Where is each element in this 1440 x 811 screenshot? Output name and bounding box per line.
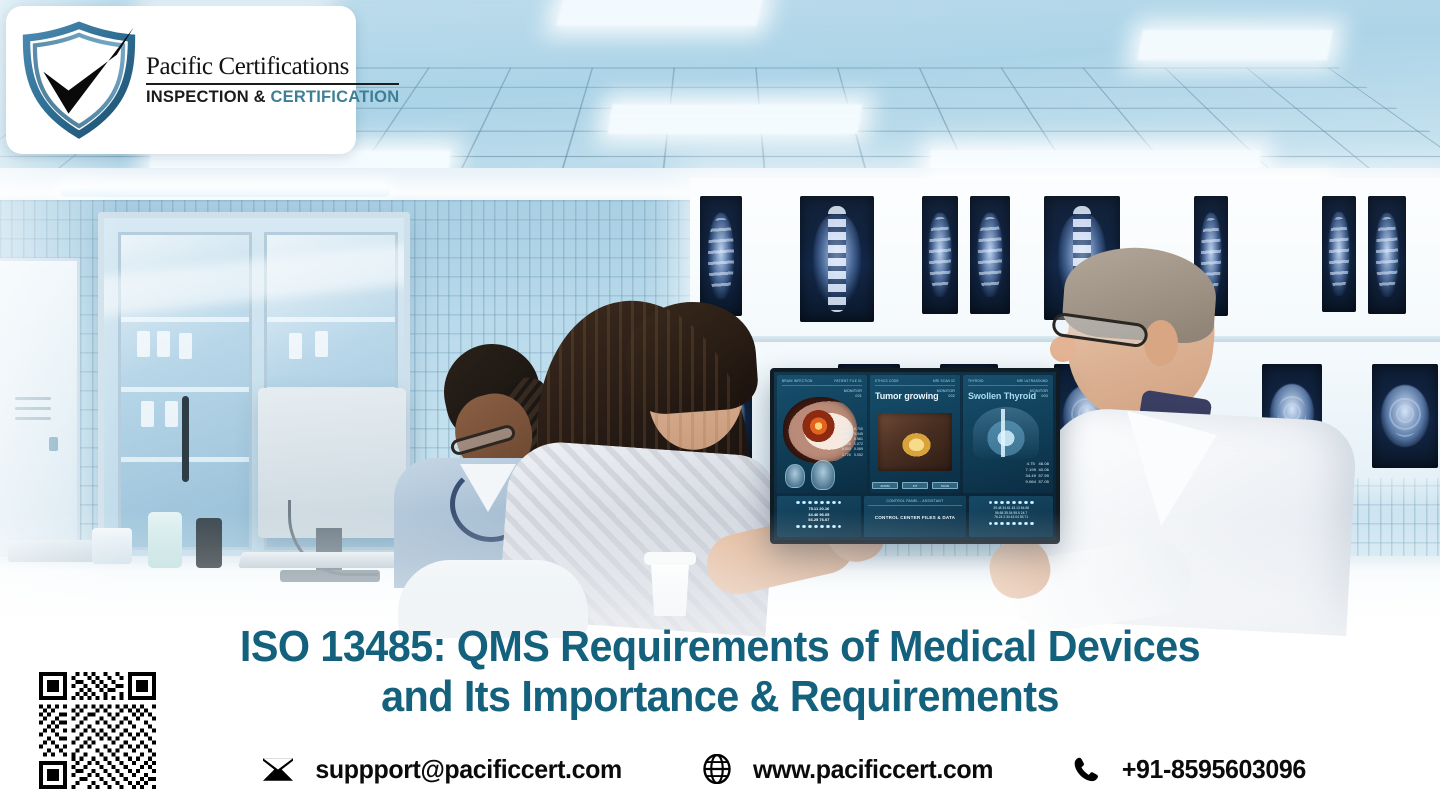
pane-header-right: MRI SCAN 02 <box>933 379 955 383</box>
contact-website[interactable]: www.pacificcert.com <box>700 752 998 786</box>
monitor-button[interactable]: FIT <box>902 482 928 489</box>
contact-bar: suppport@pacificcert.com www.pacificcert… <box>0 742 1440 796</box>
thyroid-scan-image <box>973 407 1039 459</box>
phone-icon <box>1070 752 1104 786</box>
logo-wordmark: Pacific Certifications INSPECTION & CERT… <box>142 53 399 107</box>
desk-jar <box>92 528 132 564</box>
locker-lock <box>49 437 58 451</box>
thyroid-scan-line <box>1001 409 1005 457</box>
monitor-bottom-left: 75.11 20.16 34.46 96.05 53.25 76.07 <box>777 496 861 537</box>
person-doctor <box>1024 248 1354 628</box>
email-icon <box>261 752 295 786</box>
ceiling-light <box>557 0 764 26</box>
indicator-dots <box>973 501 1049 504</box>
phone-label: +91-8595603096 <box>1122 754 1306 785</box>
title-line-2: and Its Importance & Requirements <box>156 672 1284 722</box>
logo-tagline: INSPECTION & CERTIFICATION <box>146 88 399 107</box>
monitor-pane-brain: BRAIN INFECTION PATIENT FILE 01 MONITOR … <box>777 375 867 493</box>
tumor-scan-image <box>878 413 952 471</box>
control-panel-header: CONTROL PANEL - ASSISTANT <box>868 499 963 506</box>
pane-header-right: MRI ULTRASOUND <box>1017 379 1048 383</box>
desk-bottle-dark <box>196 518 222 568</box>
tagline-inspection: INSPECTION & <box>146 88 271 106</box>
logo-card[interactable]: Pacific Certifications INSPECTION & CERT… <box>6 6 356 154</box>
readout-value: 76.24 2.34 42.04 53.71 <box>973 515 1049 519</box>
monitor-pane-thyroid: THYROID MRI ULTRASOUND MONITOR 003 Swoll… <box>963 375 1053 493</box>
monitor-label: MONITOR <box>937 389 955 393</box>
indicator-dots <box>973 522 1049 525</box>
title-line-1: ISO 13485: QMS Requirements of Medical D… <box>156 622 1284 672</box>
control-center-title: CONTROL CENTER FILES & DATA <box>868 515 963 521</box>
website-label: www.pacificcert.com <box>753 754 993 785</box>
medical-display-monitor: BRAIN INFECTION PATIENT FILE 01 MONITOR … <box>770 368 1060 544</box>
skull-thumbnail <box>811 460 835 490</box>
coffee-cup-lid <box>644 552 696 565</box>
monitor-id: 001 <box>855 394 862 398</box>
globe-icon <box>700 752 734 786</box>
indicator-dots <box>781 501 857 504</box>
desk-bottle <box>148 512 182 568</box>
contact-phone[interactable]: +91-8595603096 <box>1070 752 1310 786</box>
monitor-bottom-center: CONTROL PANEL - ASSISTANT CONTROL CENTER… <box>864 496 967 537</box>
pane-readout: 0.002 0.700 0.005 0.045 18.3 0.561 2.005… <box>842 427 863 458</box>
logo-divider <box>146 83 399 85</box>
fridge-handle <box>182 396 189 482</box>
ceiling-light <box>1137 30 1333 60</box>
skull-thumbnail <box>785 464 805 488</box>
pane-header: BRAIN INFECTION <box>782 379 813 383</box>
xray-brain-film <box>1372 364 1438 468</box>
email-label: suppport@pacificcert.com <box>315 754 621 785</box>
tagline-certification: CERTIFICATION <box>271 88 400 106</box>
logo-company-name: Pacific Certifications <box>146 53 399 81</box>
monitor-button[interactable]: SCAN <box>932 482 958 489</box>
monitor-id: 002 <box>948 394 955 398</box>
monitor-bottom-right: 39.48 34.61 43.13 64.68 56.68 35.04 55.5… <box>969 496 1053 537</box>
contact-email[interactable]: suppport@pacificcert.com <box>261 752 628 786</box>
shield-check-icon <box>16 17 142 143</box>
monitor-button[interactable]: ZOOM <box>872 482 898 489</box>
page-title: ISO 13485: QMS Requirements of Medical D… <box>0 622 1440 722</box>
pane-header: ETHICS CODE <box>875 379 899 383</box>
indicator-dots <box>781 525 857 528</box>
monitor-button-row[interactable]: ZOOM FIT SCAN <box>878 482 952 489</box>
banner-image: BRAIN INFECTION PATIENT FILE 01 MONITOR … <box>0 0 1440 811</box>
pane-header-right: PATIENT FILE 01 <box>834 379 862 383</box>
monitor-label: MONITOR <box>844 389 862 393</box>
pane-readout: 4.75 46.08 7.199 40.06 34.49 57.59 9.064… <box>1026 461 1049 485</box>
ceiling-light <box>608 104 863 134</box>
monitor-label: MONITOR <box>1030 389 1048 393</box>
pane-header: THYROID <box>968 379 984 383</box>
xray-film <box>1368 196 1406 314</box>
coffee-cup <box>648 558 692 616</box>
monitor-pane-tumor: ETHICS CODE MRI SCAN 02 MONITOR 002 Tumo… <box>870 375 960 493</box>
fluorescent-tube <box>60 186 390 197</box>
desk-tray <box>8 540 94 562</box>
xray-film <box>970 196 1010 314</box>
monitor-id: 003 <box>1041 394 1048 398</box>
xray-film <box>922 196 958 314</box>
locker-cabinet <box>0 258 80 558</box>
readout-value: 53.25 76.07 <box>781 517 857 522</box>
